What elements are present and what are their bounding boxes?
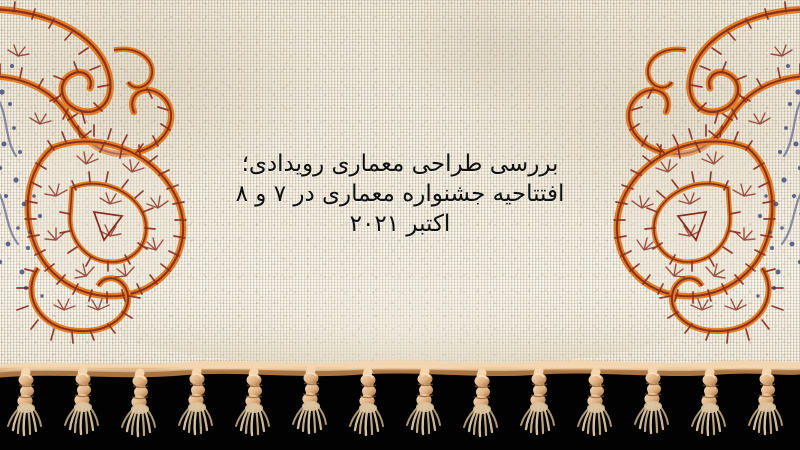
title-line-3: اکتبر ۲۰۲۱ (190, 210, 610, 240)
title-line-1: بررسی طراحی معماری رویدادی؛ (190, 150, 610, 180)
title-line-2: افتتاحیه جشنواره معماری در ۷ و ۸ (190, 180, 610, 210)
tassel-fringe (0, 360, 800, 450)
banner-slide: بررسی طراحی معماری رویدادی؛ افتتاحیه جشن… (0, 0, 800, 450)
event-title: بررسی طراحی معماری رویدادی؛ افتتاحیه جشن… (190, 150, 610, 240)
